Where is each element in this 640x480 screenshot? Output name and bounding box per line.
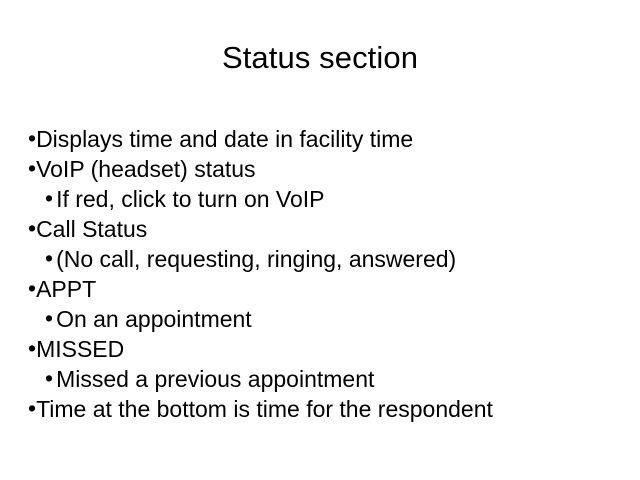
bullet-icon: • bbox=[28, 333, 36, 363]
page-title: Status section bbox=[0, 40, 640, 76]
list-item: • Displays time and date in facility tim… bbox=[0, 124, 640, 154]
bullet-icon: • bbox=[45, 303, 53, 333]
slide: Status section • Displays time and date … bbox=[0, 0, 640, 480]
list-item: • APPT bbox=[0, 274, 640, 304]
bullet-icon: • bbox=[28, 393, 36, 423]
list-item-label: (No call, requesting, ringing, answered) bbox=[56, 244, 456, 274]
bullet-icon: • bbox=[45, 183, 53, 213]
list-item: • Time at the bottom is time for the res… bbox=[0, 394, 640, 424]
list-item-label: MISSED bbox=[36, 334, 124, 364]
list-item-label: On an appointment bbox=[56, 304, 252, 334]
list-item: • Call Status bbox=[0, 214, 640, 244]
list-item: • (No call, requesting, ringing, answere… bbox=[0, 244, 640, 274]
bullet-icon: • bbox=[28, 213, 36, 243]
list-item: • MISSED bbox=[0, 334, 640, 364]
list-item-label: APPT bbox=[36, 274, 96, 304]
list-item-label: VoIP (headset) status bbox=[36, 154, 256, 184]
list-item: • VoIP (headset) status bbox=[0, 154, 640, 184]
list-item-label: If red, click to turn on VoIP bbox=[56, 184, 324, 214]
bullet-icon: • bbox=[45, 363, 53, 393]
bullet-list: • Displays time and date in facility tim… bbox=[0, 124, 640, 424]
bullet-icon: • bbox=[28, 273, 36, 303]
list-item: • Missed a previous appointment bbox=[0, 364, 640, 394]
bullet-icon: • bbox=[28, 123, 36, 153]
list-item: • On an appointment bbox=[0, 304, 640, 334]
list-item-label: Call Status bbox=[36, 214, 147, 244]
list-item-label: Time at the bottom is time for the respo… bbox=[36, 394, 493, 424]
list-item: • If red, click to turn on VoIP bbox=[0, 184, 640, 214]
list-item-label: Missed a previous appointment bbox=[56, 364, 374, 394]
bullet-icon: • bbox=[45, 243, 53, 273]
bullet-icon: • bbox=[28, 153, 36, 183]
list-item-label: Displays time and date in facility time bbox=[36, 124, 413, 154]
